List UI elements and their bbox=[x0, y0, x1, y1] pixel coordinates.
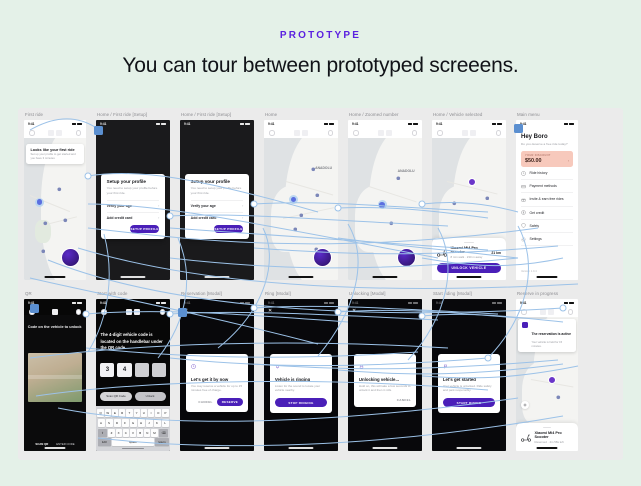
coin-icon bbox=[521, 210, 526, 215]
status-time: 9:41 bbox=[520, 301, 526, 305]
qr-scanner[interactable]: Code on the vehicle to unlock SCAN QR EN… bbox=[24, 315, 86, 451]
home-indicator bbox=[120, 276, 145, 277]
map-pin-vehicle[interactable] bbox=[56, 186, 62, 192]
status-time: 9:41 bbox=[520, 122, 526, 126]
key[interactable]: S bbox=[106, 419, 113, 427]
card-icon bbox=[521, 184, 526, 189]
phone-screen[interactable]: 9:41 Code on the vehicle to unlock SCAN … bbox=[24, 299, 86, 451]
setup-item-add-card[interactable]: Add credit card › bbox=[107, 212, 160, 220]
frame-row-top: First ride 9:41 bbox=[18, 112, 623, 287]
menu-item-invite-earn[interactable]: Invite & earn free rides bbox=[521, 193, 573, 206]
modal-subtitle: You may reserve a vehicle for up to 15 m… bbox=[191, 384, 243, 393]
close-icon[interactable]: ✕ bbox=[352, 309, 356, 314]
scan-fab-button[interactable] bbox=[397, 248, 416, 267]
map-nav-row[interactable] bbox=[24, 128, 86, 138]
ring-modal[interactable]: Vehicle is ringing Listen for the sound … bbox=[270, 354, 332, 413]
vehicle-name: Xiaomi Mi4 Pro Scooter bbox=[535, 431, 574, 439]
map-view[interactable]: ANADOLU bbox=[348, 138, 422, 280]
key[interactable]: K bbox=[154, 419, 161, 427]
setup-item-label: Add credit card bbox=[107, 216, 133, 220]
shield-icon bbox=[521, 223, 526, 228]
map-pin-vehicle[interactable] bbox=[451, 200, 457, 206]
vehicle-row: Xiaomi Mi4 Pro Scooter Reserved · 4m 58s… bbox=[521, 431, 573, 444]
tab-scan-qr[interactable]: SCAN QR bbox=[35, 442, 48, 446]
battery-icon bbox=[329, 123, 334, 126]
map-pin-vehicle[interactable] bbox=[40, 249, 46, 255]
map-nav-row[interactable] bbox=[348, 128, 422, 138]
reservation-banner[interactable]: The reservation is active Your vehicle i… bbox=[518, 319, 575, 353]
phone-screen[interactable]: 9:41 bbox=[432, 120, 506, 280]
map-pin-vehicle[interactable] bbox=[484, 195, 490, 201]
close-icon[interactable]: ✕ bbox=[268, 309, 272, 314]
chevron-right-icon: › bbox=[568, 159, 569, 163]
phone-screen[interactable]: 9:41 ✕ Unlocking vehicle... Hold on, thi… bbox=[348, 299, 422, 451]
map-land-secondary bbox=[522, 363, 558, 425]
status-bar: 9:41 bbox=[96, 120, 170, 128]
key[interactable]: F bbox=[122, 419, 129, 427]
tab-enter-code[interactable]: ENTER CODE bbox=[56, 442, 74, 446]
map-nav-row[interactable] bbox=[516, 307, 578, 317]
clock-icon bbox=[191, 364, 196, 369]
map-nav-row[interactable] bbox=[264, 128, 338, 138]
reservation-modal[interactable]: Let's get it by now You may reserve a ve… bbox=[186, 354, 248, 412]
locate-me-button[interactable] bbox=[521, 401, 529, 409]
chevron-right-icon: › bbox=[242, 216, 243, 220]
menu-item-payment-methods[interactable]: Payment methods bbox=[521, 180, 573, 193]
code-digit-4[interactable] bbox=[152, 363, 166, 377]
setup-item-verify-age[interactable]: Verify your age › bbox=[107, 200, 160, 208]
modal-title: Let's get it by now bbox=[191, 377, 243, 382]
menu-icon[interactable] bbox=[437, 130, 443, 136]
map-land-secondary bbox=[355, 186, 398, 251]
phone-screen[interactable]: 9:41 Setup your profile You need to setu… bbox=[180, 120, 254, 280]
vehicle-bottom-sheet[interactable]: Xiaomi Mi4 Pro Scooter 8 min walk · 230 … bbox=[432, 238, 506, 280]
flag-icon bbox=[443, 364, 448, 369]
map-pin-active[interactable] bbox=[468, 178, 476, 186]
frame-label: Start riding [Modal] bbox=[433, 291, 472, 296]
frame-label: Home / Zoomed number bbox=[349, 112, 399, 117]
close-icon[interactable] bbox=[29, 309, 35, 315]
numbers-key[interactable]: 123 bbox=[98, 438, 111, 446]
battery-icon bbox=[569, 302, 574, 305]
filter-icon[interactable] bbox=[462, 130, 468, 136]
setup-item-add-card[interactable]: Add credit card › bbox=[191, 212, 244, 220]
layers-icon[interactable] bbox=[386, 130, 392, 136]
banner-text: The reservation is active Your vehicle i… bbox=[531, 322, 571, 349]
key[interactable]: Y bbox=[134, 409, 140, 417]
setup-profile-button[interactable]: SETUP PROFILE bbox=[214, 225, 243, 234]
help-icon[interactable] bbox=[134, 309, 140, 315]
modal-title: Vehicle is ringing bbox=[275, 377, 327, 382]
modal-actions: STOP RINGING bbox=[275, 398, 327, 408]
phone-screen[interactable]: 9:41 Let's get started Your vehicle is u… bbox=[432, 299, 506, 451]
layers-icon[interactable] bbox=[470, 130, 476, 136]
key[interactable]: J bbox=[146, 419, 153, 427]
filter-icon[interactable] bbox=[294, 130, 300, 136]
key[interactable]: Q bbox=[97, 409, 103, 417]
map-pin-selected[interactable] bbox=[35, 198, 44, 207]
map-pin-vehicle[interactable] bbox=[314, 192, 320, 198]
vehicle-info: Xiaomi Mi4 Pro Scooter 8 min walk · 230 … bbox=[451, 246, 488, 259]
frame-label: QR bbox=[25, 291, 32, 296]
signal-icon bbox=[564, 302, 568, 305]
phone-screen[interactable]: 9:41 ✕ Vehicle is ringing Listen for the… bbox=[264, 299, 338, 451]
home-indicator bbox=[122, 448, 143, 449]
setup-item-verify-age[interactable]: Verify your age › bbox=[191, 200, 244, 208]
chevron-right-icon: › bbox=[158, 216, 159, 220]
signal-icon bbox=[156, 302, 160, 305]
battery-icon bbox=[161, 123, 166, 126]
chevron-right-icon: › bbox=[158, 204, 159, 208]
nav-middle bbox=[48, 130, 62, 136]
camera-detail bbox=[28, 375, 83, 379]
menu-icon[interactable] bbox=[269, 130, 275, 136]
signal-icon bbox=[324, 123, 328, 126]
menu-item-get-credit[interactable]: Get credit bbox=[521, 207, 573, 220]
modal-subtitle: Your vehicle is unlocked. Ride safely an… bbox=[443, 384, 495, 393]
battery-icon bbox=[497, 123, 502, 126]
flash-icon[interactable] bbox=[126, 309, 132, 315]
back-icon[interactable] bbox=[101, 309, 107, 315]
scooter-icon bbox=[437, 248, 447, 257]
prototype-canvas[interactable]: First ride 9:41 bbox=[18, 108, 623, 460]
key[interactable]: L bbox=[162, 419, 169, 427]
key[interactable]: E bbox=[112, 409, 118, 417]
phone-screen[interactable]: 9:41 Setup your profile You need to setu… bbox=[96, 120, 170, 280]
key[interactable]: V bbox=[130, 429, 136, 437]
filter-icon[interactable] bbox=[48, 130, 54, 136]
menu-item-label: Safety bbox=[530, 224, 540, 228]
filter-icon[interactable] bbox=[540, 309, 546, 315]
vehicle-info: Xiaomi Mi4 Pro Scooter Reserved · 4m 58s… bbox=[535, 431, 574, 444]
eyebrow-label: PROTOTYPE bbox=[0, 30, 641, 41]
key[interactable]: T bbox=[126, 409, 132, 417]
modal-title: Let's get started bbox=[443, 377, 495, 382]
status-time: 9:41 bbox=[28, 301, 34, 305]
keyboard-row-4: 123 space return bbox=[98, 438, 169, 446]
page-title: You can tour between prototyped screeens… bbox=[0, 54, 641, 78]
code-instruction: The 4-digit vehicle code is located on t… bbox=[100, 332, 165, 351]
profile-icon[interactable] bbox=[496, 130, 502, 136]
setup-item-label: Verify your age bbox=[107, 204, 132, 208]
profile-icon[interactable] bbox=[568, 309, 574, 315]
phone-screen[interactable]: 9:41 bbox=[24, 120, 86, 280]
code-digit-boxes[interactable]: 3 4 bbox=[100, 363, 165, 377]
frame-label: Home / Vehicle selected bbox=[433, 112, 482, 117]
frame-label: Reservation [Modal] bbox=[181, 291, 222, 296]
start-riding-button[interactable]: START RIDING bbox=[443, 398, 495, 408]
layers-icon[interactable] bbox=[56, 130, 62, 136]
setup-profile-card[interactable]: Setup your profile You need to setup you… bbox=[185, 174, 249, 239]
profile-icon[interactable] bbox=[76, 130, 82, 136]
map-nav-row[interactable] bbox=[432, 128, 506, 138]
key[interactable]: A bbox=[98, 419, 105, 427]
map-pin-vehicle[interactable] bbox=[292, 226, 298, 232]
battery-icon bbox=[161, 302, 166, 305]
key[interactable]: N bbox=[144, 429, 150, 437]
lock-icon bbox=[522, 322, 528, 328]
vehicle-range: 21 km bbox=[491, 251, 501, 255]
map-pin-vehicle[interactable] bbox=[556, 395, 562, 401]
status-bar: 9:41 bbox=[180, 120, 254, 128]
key[interactable]: M bbox=[151, 429, 157, 437]
key[interactable]: D bbox=[114, 419, 121, 427]
status-time: 9:41 bbox=[268, 122, 274, 126]
key[interactable]: I bbox=[148, 409, 154, 417]
phone-screen[interactable]: 9:41 ✕ Let's get it by now You may reser… bbox=[180, 299, 254, 451]
banner-subtitle: Your vehicle is held for 15 minutes. bbox=[531, 341, 571, 349]
status-bar: 9:41 bbox=[432, 120, 506, 128]
signal-icon bbox=[72, 302, 76, 305]
menu-greeting-sub: Do you deserve a free ride today? bbox=[521, 142, 573, 146]
code-action-bar[interactable]: Scan QR Code Unlock bbox=[100, 392, 165, 401]
key[interactable]: B bbox=[137, 429, 143, 437]
frame-label: First ride bbox=[25, 112, 43, 117]
status-time: 9:41 bbox=[100, 122, 106, 126]
setup-subtitle: You need to setup your profile before yo… bbox=[107, 186, 160, 195]
signal-icon bbox=[564, 123, 568, 126]
onscreen-keyboard[interactable]: Q W E R T Y U I O P A S D bbox=[96, 406, 170, 451]
keyboard-row-1: Q W E R T Y U I O P bbox=[98, 409, 169, 417]
status-bar: 9:41 bbox=[96, 299, 170, 307]
code-nav-row[interactable] bbox=[96, 307, 170, 317]
map-pin-vehicle[interactable] bbox=[395, 175, 401, 181]
status-bar: 9:41 bbox=[516, 299, 578, 307]
menu-item-settings[interactable]: Settings bbox=[521, 233, 573, 246]
menu-version-label: Version 1.0.4 bbox=[521, 270, 537, 273]
status-bar: 9:41 bbox=[24, 120, 86, 128]
unlocking-modal[interactable]: Unlocking vehicle... Hold on, this will … bbox=[354, 354, 416, 408]
notice-title: Looks like your first ride bbox=[30, 148, 79, 152]
space-key[interactable]: space bbox=[112, 438, 154, 446]
status-time: 9:41 bbox=[436, 122, 442, 126]
menu-item-label: Get credit bbox=[530, 211, 545, 215]
map-pin-vehicle[interactable] bbox=[43, 220, 49, 226]
key[interactable]: W bbox=[105, 409, 111, 417]
key[interactable]: C bbox=[123, 429, 129, 437]
menu-item-label: Settings bbox=[530, 237, 542, 241]
battery-icon bbox=[569, 123, 574, 126]
promo-value: $50.00 bbox=[525, 158, 569, 164]
signal-icon bbox=[492, 123, 496, 126]
start-riding-modal[interactable]: Let's get started Your vehicle is unlock… bbox=[438, 354, 500, 413]
banner-title: The reservation is active bbox=[531, 332, 571, 336]
setup-profile-button[interactable]: SETUP PROFILE bbox=[130, 225, 159, 234]
status-bar: 9:41 bbox=[348, 120, 422, 128]
frame-label: Home / First ride [Setup] bbox=[181, 112, 231, 117]
scan-qr-button[interactable]: Scan QR Code bbox=[100, 392, 131, 401]
unlock-button[interactable]: Unlock bbox=[135, 392, 166, 401]
status-time: 9:41 bbox=[184, 122, 190, 126]
setup-subtitle: You need to setup your profile before yo… bbox=[191, 186, 244, 195]
promo-banner[interactable]: YOUR DISCOUNT $50.00 › bbox=[521, 151, 573, 168]
page-header: PROTOTYPE You can tour between prototype… bbox=[0, 0, 641, 78]
setup-title: Setup your profile bbox=[191, 179, 244, 184]
status-bar: 9:41 bbox=[516, 120, 578, 128]
code-digit-3[interactable] bbox=[135, 363, 149, 377]
map-pin-vehicle[interactable] bbox=[298, 212, 304, 218]
modal-actions: CANCEL bbox=[359, 398, 411, 402]
lock-icon bbox=[359, 364, 364, 369]
setup-item-label: Add credit card bbox=[191, 216, 217, 220]
code-digit-1[interactable]: 3 bbox=[100, 363, 114, 377]
filter-icon[interactable] bbox=[378, 130, 384, 136]
menu-item-label: Ride history bbox=[530, 171, 548, 175]
setup-profile-card[interactable]: Setup your profile You need to setup you… bbox=[101, 174, 165, 239]
chevron-right-icon: › bbox=[242, 204, 243, 208]
close-icon[interactable]: ✕ bbox=[184, 309, 188, 314]
menu-icon[interactable] bbox=[29, 130, 35, 136]
phone-screen[interactable]: 9:41 Hey Boro Do you deserve a free ride… bbox=[516, 120, 578, 280]
map-pin-vehicle[interactable] bbox=[388, 220, 394, 226]
status-time: 9:41 bbox=[352, 122, 358, 126]
qr-hint: Code on the vehicle to unlock bbox=[28, 325, 83, 330]
status-icons bbox=[72, 123, 82, 126]
sheet-handle[interactable] bbox=[464, 242, 474, 243]
key[interactable]: U bbox=[141, 409, 147, 417]
modal-subtitle: Listen for the sound to locate your vehi… bbox=[275, 384, 327, 393]
modal-title: Unlocking vehicle... bbox=[359, 377, 411, 382]
layers-icon[interactable] bbox=[302, 130, 308, 136]
stop-ringing-button[interactable]: STOP RINGING bbox=[275, 398, 327, 408]
crosshair-icon bbox=[523, 403, 527, 407]
gift-icon bbox=[521, 197, 526, 202]
camera-viewfinder bbox=[28, 353, 83, 402]
frame-label: Unlocking [Modal] bbox=[349, 291, 386, 296]
qr-mode-tabs[interactable]: SCAN QR ENTER CODE bbox=[24, 442, 86, 446]
vehicle-row: Xiaomi Mi4 Pro Scooter 8 min walk · 230 … bbox=[437, 246, 501, 259]
menu-item-safety[interactable]: Safety bbox=[521, 220, 573, 233]
home-indicator bbox=[204, 276, 229, 277]
signal-icon bbox=[240, 123, 244, 126]
status-time: 9:41 bbox=[100, 301, 106, 305]
key[interactable]: H bbox=[138, 419, 145, 427]
status-bar: 9:41 bbox=[264, 120, 338, 128]
menu-greeting: Hey Boro bbox=[521, 134, 573, 140]
key[interactable]: O bbox=[155, 409, 161, 417]
phone-screen[interactable]: 9:41 The 4-digit vehicle code is located… bbox=[96, 299, 170, 451]
main-menu-panel[interactable]: Hey Boro Do you deserve a free ride toda… bbox=[516, 129, 578, 280]
battery-icon bbox=[77, 123, 82, 126]
menu-icon[interactable] bbox=[353, 130, 359, 136]
setup-item-label: Verify your age bbox=[191, 204, 216, 208]
gear-icon bbox=[521, 237, 526, 242]
menu-icon[interactable] bbox=[521, 309, 527, 315]
sheet-handle[interactable] bbox=[543, 427, 551, 428]
signal-icon bbox=[156, 123, 160, 126]
map-pin-vehicle[interactable] bbox=[310, 166, 316, 172]
help-icon[interactable] bbox=[76, 309, 82, 315]
shift-key[interactable]: ⇧ bbox=[98, 429, 108, 437]
phone-screen[interactable]: 9:41 bbox=[516, 299, 578, 451]
phone-screen[interactable]: 9:41 ANADOLU bbox=[348, 120, 422, 280]
profile-icon[interactable] bbox=[412, 130, 418, 136]
key[interactable]: P bbox=[162, 409, 168, 417]
battery-icon bbox=[77, 302, 82, 305]
modal-subtitle: Hold on, this will take a few seconds to… bbox=[359, 384, 411, 393]
cancel-button[interactable]: CANCEL bbox=[198, 400, 212, 404]
code-digit-2[interactable]: 4 bbox=[117, 363, 131, 377]
phone-screen[interactable]: 9:41 ANADOLU bbox=[264, 120, 338, 280]
frame-label: Home / First ride [Setup] bbox=[97, 112, 147, 117]
battery-icon bbox=[245, 123, 250, 126]
frame-label: Main menu bbox=[517, 112, 540, 117]
signal-icon bbox=[72, 123, 76, 126]
flash-icon[interactable] bbox=[52, 309, 58, 315]
key[interactable]: Z bbox=[108, 429, 114, 437]
bell-icon bbox=[275, 364, 280, 369]
return-key[interactable]: return bbox=[155, 438, 168, 446]
layers-icon[interactable] bbox=[548, 309, 554, 315]
frame-row-bottom: QR 9:41 Code on the vehicle to unlock bbox=[18, 291, 623, 460]
key[interactable]: G bbox=[130, 419, 137, 427]
first-ride-notice-card[interactable]: Looks like your first ride Set up your p… bbox=[26, 144, 83, 164]
profile-icon[interactable] bbox=[328, 130, 334, 136]
status-time: 9:41 bbox=[28, 122, 34, 126]
frame-label: Home bbox=[265, 112, 277, 117]
map-view[interactable]: ANADOLU bbox=[264, 138, 338, 280]
menu-item-ride-history[interactable]: Ride history bbox=[521, 167, 573, 180]
reserve-button[interactable]: RESERVE bbox=[217, 398, 243, 406]
backspace-key[interactable]: ⌫ bbox=[159, 429, 169, 437]
key[interactable]: R bbox=[119, 409, 125, 417]
status-bar: 9:41 bbox=[24, 299, 86, 307]
home-indicator bbox=[44, 447, 65, 448]
frame-label: Start with code bbox=[97, 291, 128, 296]
map-region-label: ANADOLU bbox=[315, 166, 332, 170]
frame-label: Reserve in progress bbox=[517, 291, 558, 296]
map-pin-selected[interactable] bbox=[289, 195, 298, 204]
scan-fab-button[interactable] bbox=[313, 248, 332, 267]
modal-actions: CANCEL RESERVE bbox=[191, 398, 243, 406]
modal-actions: START RIDING bbox=[443, 398, 495, 408]
battery-icon bbox=[413, 123, 418, 126]
key[interactable]: X bbox=[116, 429, 122, 437]
vehicle-name: Xiaomi Mi4 Pro Scooter bbox=[451, 246, 488, 254]
close-icon[interactable] bbox=[160, 309, 166, 315]
notice-subtitle: Set up your profile to get started and y… bbox=[30, 153, 79, 161]
keyboard-row-3: ⇧ Z X C V B N M ⌫ bbox=[98, 429, 169, 437]
menu-item-label: Invite & earn free rides bbox=[530, 197, 564, 201]
map-region-label: ANADOLU bbox=[398, 169, 415, 173]
vehicle-meta: Reserved · 4m 58s left bbox=[535, 440, 574, 444]
unlock-vehicle-button[interactable]: UNLOCK VEHICLE bbox=[437, 263, 501, 273]
scan-fab-button[interactable] bbox=[61, 248, 80, 267]
vehicle-meta: 8 min walk · 230 m away bbox=[451, 255, 488, 259]
menu-item-label: Payment methods bbox=[530, 184, 557, 188]
map-pin-vehicle[interactable] bbox=[62, 218, 68, 224]
keyboard-row-2: A S D F G H J K L bbox=[98, 419, 169, 427]
frame-label: Ring [Modal] bbox=[265, 291, 291, 296]
cancel-button[interactable]: CANCEL bbox=[397, 398, 411, 402]
signal-icon bbox=[408, 123, 412, 126]
setup-title: Setup your profile bbox=[107, 179, 160, 184]
scooter-icon bbox=[521, 433, 531, 442]
clock-icon bbox=[521, 171, 526, 176]
